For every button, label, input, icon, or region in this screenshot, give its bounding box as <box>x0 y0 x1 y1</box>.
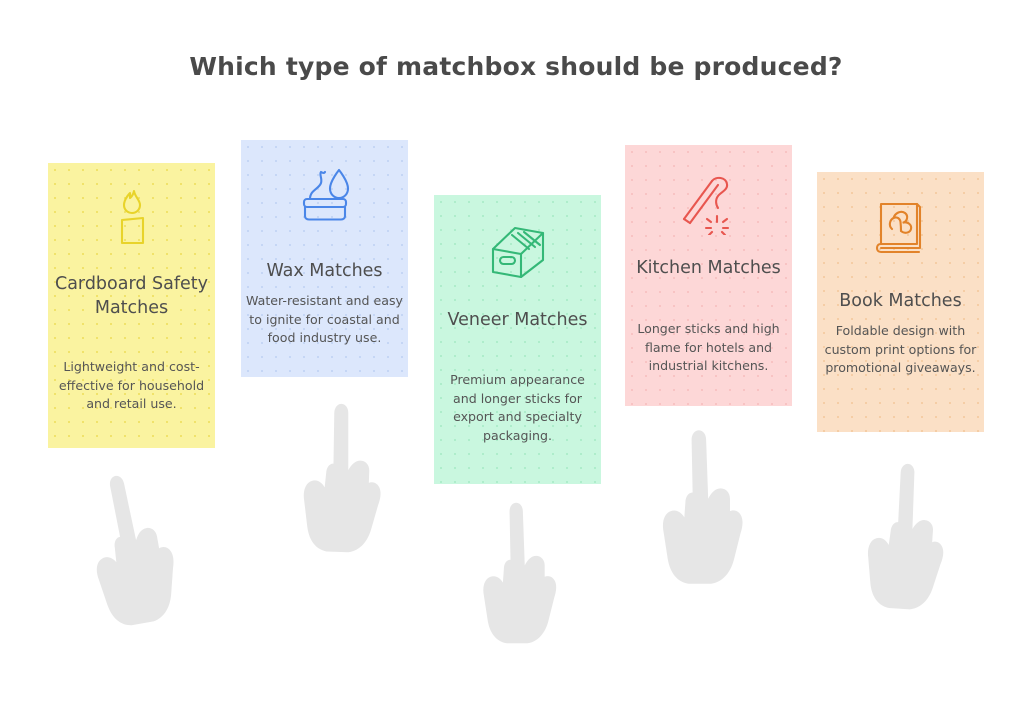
matchbook-icon <box>817 196 984 266</box>
matchbox-drawer-icon <box>434 219 601 289</box>
option-card-veneer-matches[interactable]: Veneer MatchesPremium appearance and lon… <box>434 195 601 484</box>
card-title: Veneer Matches <box>434 309 601 333</box>
candle-flame-icon <box>48 187 215 257</box>
pointing-hand-icon <box>651 424 755 590</box>
option-card-book-matches[interactable]: Book MatchesFoldable design with custom … <box>817 172 984 432</box>
card-description: Lightweight and cost-effective for house… <box>48 358 215 414</box>
card-description: Longer sticks and high flame for hotels … <box>625 320 792 376</box>
card-title: Cardboard Safety Matches <box>48 273 215 320</box>
match-stick-spark-icon <box>625 169 792 239</box>
card-title: Book Matches <box>817 290 984 314</box>
card-title: Kitchen Matches <box>625 257 792 281</box>
pointing-hand-icon <box>62 459 203 639</box>
card-description: Foldable design with custom print option… <box>817 322 984 378</box>
card-description: Water-resistant and easy to ignite for c… <box>241 292 408 348</box>
card-title: Wax Matches <box>241 260 408 284</box>
pointing-hand-icon <box>472 497 568 649</box>
pointing-hand-icon <box>290 394 396 561</box>
pointing-hand-icon <box>853 455 962 618</box>
card-description: Premium appearance and longer sticks for… <box>434 371 601 446</box>
option-card-kitchen-matches[interactable]: Kitchen MatchesLonger sticks and high fl… <box>625 145 792 406</box>
option-card-cardboard-safety-matches[interactable]: Cardboard Safety MatchesLightweight and … <box>48 163 215 448</box>
page-title: Which type of matchbox should be produce… <box>0 52 1032 81</box>
infographic-canvas: Which type of matchbox should be produce… <box>0 0 1032 708</box>
option-card-wax-matches[interactable]: Wax MatchesWater-resistant and easy to i… <box>241 140 408 377</box>
wax-droplet-icon <box>241 162 408 232</box>
